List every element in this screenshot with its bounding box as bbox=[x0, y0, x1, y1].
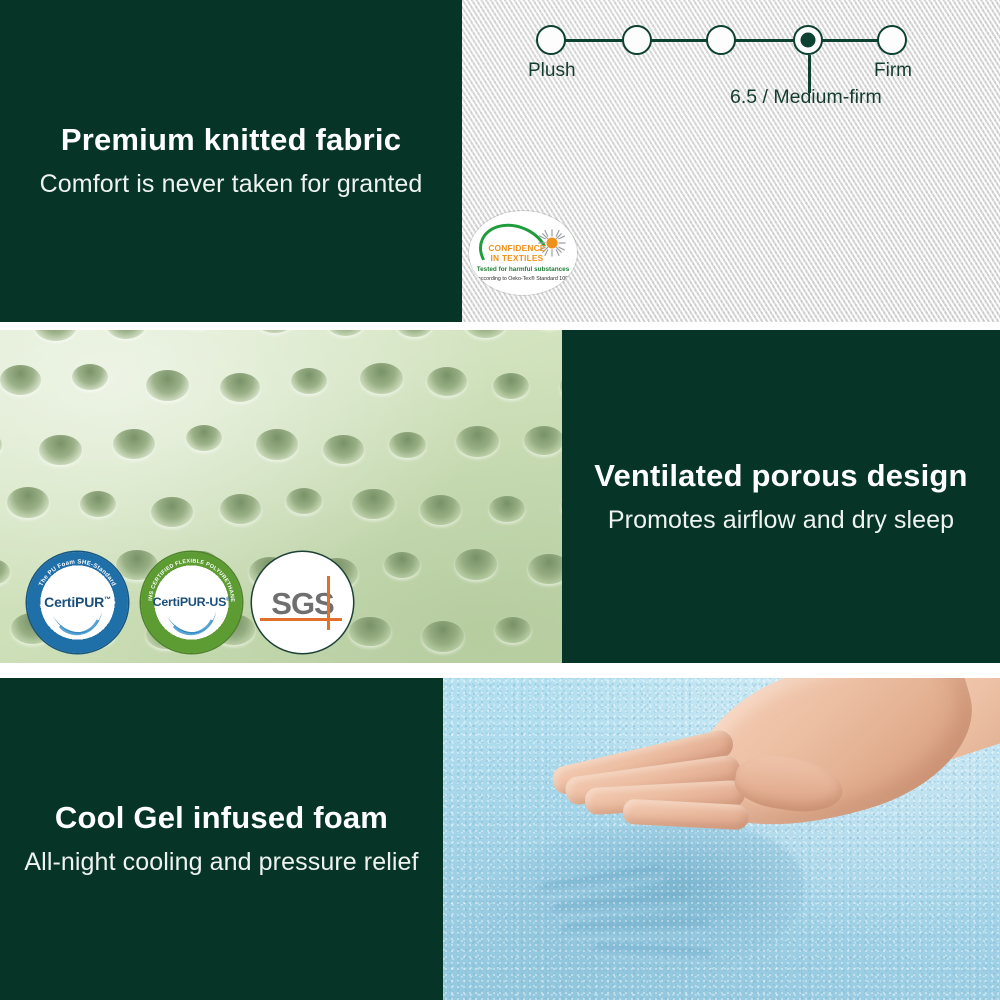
foam-dimple bbox=[80, 491, 116, 517]
sgs-mark: SGS bbox=[252, 552, 353, 653]
panel-headline-fabric: Premium knitted fabric bbox=[61, 123, 401, 157]
foam-dimple bbox=[220, 373, 261, 402]
foam-dimple bbox=[186, 425, 222, 451]
foam-dimple bbox=[253, 330, 297, 333]
image-knitted-fabric: Plush Firm 6.5 / Medium-firm bbox=[462, 0, 1000, 322]
scale-label-plush: Plush bbox=[528, 60, 576, 82]
foam-dimple bbox=[349, 617, 390, 647]
certipur-us-swoosh-icon bbox=[164, 606, 220, 646]
panel-cool-gel-infused-foam: Cool Gel infused foam All-night cooling … bbox=[0, 678, 1000, 1000]
image-gel-foam-hand bbox=[443, 678, 1000, 1000]
certipur-badge: The PU Foam SHE-Standard by Europur AISB… bbox=[27, 552, 128, 653]
foam-dimple bbox=[323, 435, 364, 464]
foam-dimple bbox=[464, 330, 508, 338]
scale-node-3[interactable] bbox=[706, 25, 736, 55]
text-block-ventilated: Ventilated porous design Promotes airflo… bbox=[562, 330, 1000, 663]
certipur-us-badge: CONTAINS CERTIFIED FLEXIBLE POLYURETHANE… bbox=[141, 552, 242, 653]
foam-dimple bbox=[420, 495, 461, 525]
foam-dimple bbox=[151, 497, 193, 527]
foam-dimple bbox=[495, 617, 531, 643]
foam-dimple bbox=[0, 365, 41, 395]
panel-ventilated-porous-design: The PU Foam SHE-Standard by Europur AISB… bbox=[0, 330, 1000, 663]
foam-dimple bbox=[360, 363, 403, 394]
oeko-tex-badge: CONFIDENCE IN TEXTILES Tested for harmfu… bbox=[469, 211, 577, 295]
hand-illustration bbox=[539, 678, 969, 856]
scale-pointer-stem bbox=[808, 55, 811, 93]
foam-dimple bbox=[352, 489, 394, 520]
oeko-title: CONFIDENCE IN TEXTILES bbox=[480, 244, 554, 264]
text-block-fabric: Premium knitted fabric Comfort is never … bbox=[0, 0, 462, 322]
scale-node-2[interactable] bbox=[622, 25, 652, 55]
oeko-subtitle: Tested for harmful substances bbox=[473, 266, 573, 273]
sgs-vertical-rule bbox=[327, 576, 330, 630]
foam-dimple bbox=[291, 368, 327, 394]
foam-dimple bbox=[256, 429, 299, 460]
panel-subline-ventilated: Promotes airflow and dry sleep bbox=[608, 507, 954, 535]
panel-premium-knitted-fabric: Premium knitted fabric Comfort is never … bbox=[0, 0, 1000, 322]
foam-dimple bbox=[106, 330, 146, 339]
scale-label-firm: Firm bbox=[874, 60, 912, 82]
foam-dimple bbox=[113, 429, 155, 459]
finger-pinky bbox=[622, 799, 749, 831]
scale-label-value: 6.5 / Medium-firm bbox=[730, 86, 882, 109]
scale-node-5[interactable] bbox=[877, 25, 907, 55]
svg-text:The PU Foam SHE-Standard: The PU Foam SHE-Standard bbox=[38, 558, 118, 587]
foam-dimple bbox=[0, 432, 2, 458]
product-feature-infographic: Premium knitted fabric Comfort is never … bbox=[0, 0, 1000, 1000]
foam-dimple bbox=[220, 494, 262, 524]
panel-subline-gel: All-night cooling and pressure relief bbox=[24, 849, 418, 877]
foam-dimple bbox=[422, 621, 464, 652]
sgs-badge: SGS bbox=[252, 552, 353, 653]
foam-dimple bbox=[489, 496, 525, 522]
panel-headline-gel: Cool Gel infused foam bbox=[55, 801, 388, 835]
scale-node-4-selected[interactable] bbox=[793, 25, 823, 55]
sgs-wordmark: SGS bbox=[252, 586, 353, 622]
foam-dimple bbox=[72, 364, 108, 390]
foam-dimple bbox=[384, 552, 420, 578]
foam-dimple bbox=[34, 330, 77, 341]
scale-node-1[interactable] bbox=[536, 25, 566, 55]
foam-dimple bbox=[0, 559, 10, 585]
foam-dimple bbox=[146, 370, 189, 401]
sgs-horizontal-rule bbox=[260, 618, 342, 621]
foam-dimple bbox=[7, 487, 49, 518]
foam-dimple bbox=[524, 426, 562, 455]
foam-dimple bbox=[455, 549, 497, 579]
foam-dimple bbox=[389, 432, 425, 458]
foam-dimple bbox=[528, 554, 562, 584]
scale-node-fill bbox=[801, 33, 816, 48]
panel-headline-ventilated: Ventilated porous design bbox=[594, 459, 967, 493]
text-block-gel: Cool Gel infused foam All-night cooling … bbox=[0, 678, 443, 1000]
foam-dimple bbox=[427, 367, 467, 396]
foam-dimple bbox=[326, 330, 366, 336]
foam-dimple bbox=[396, 330, 433, 337]
foam-dimple bbox=[456, 426, 499, 457]
oeko-standard: according to Oeko-Tex® Standard 100 bbox=[473, 276, 573, 282]
image-green-perforated-foam: The PU Foam SHE-Standard by Europur AISB… bbox=[0, 330, 562, 663]
foam-dimple bbox=[286, 488, 322, 514]
panel-subline-fabric: Comfort is never taken for granted bbox=[40, 171, 423, 199]
foam-dimple bbox=[493, 373, 530, 399]
certipur-swoosh-icon bbox=[50, 606, 106, 646]
foam-dimple bbox=[39, 435, 81, 465]
